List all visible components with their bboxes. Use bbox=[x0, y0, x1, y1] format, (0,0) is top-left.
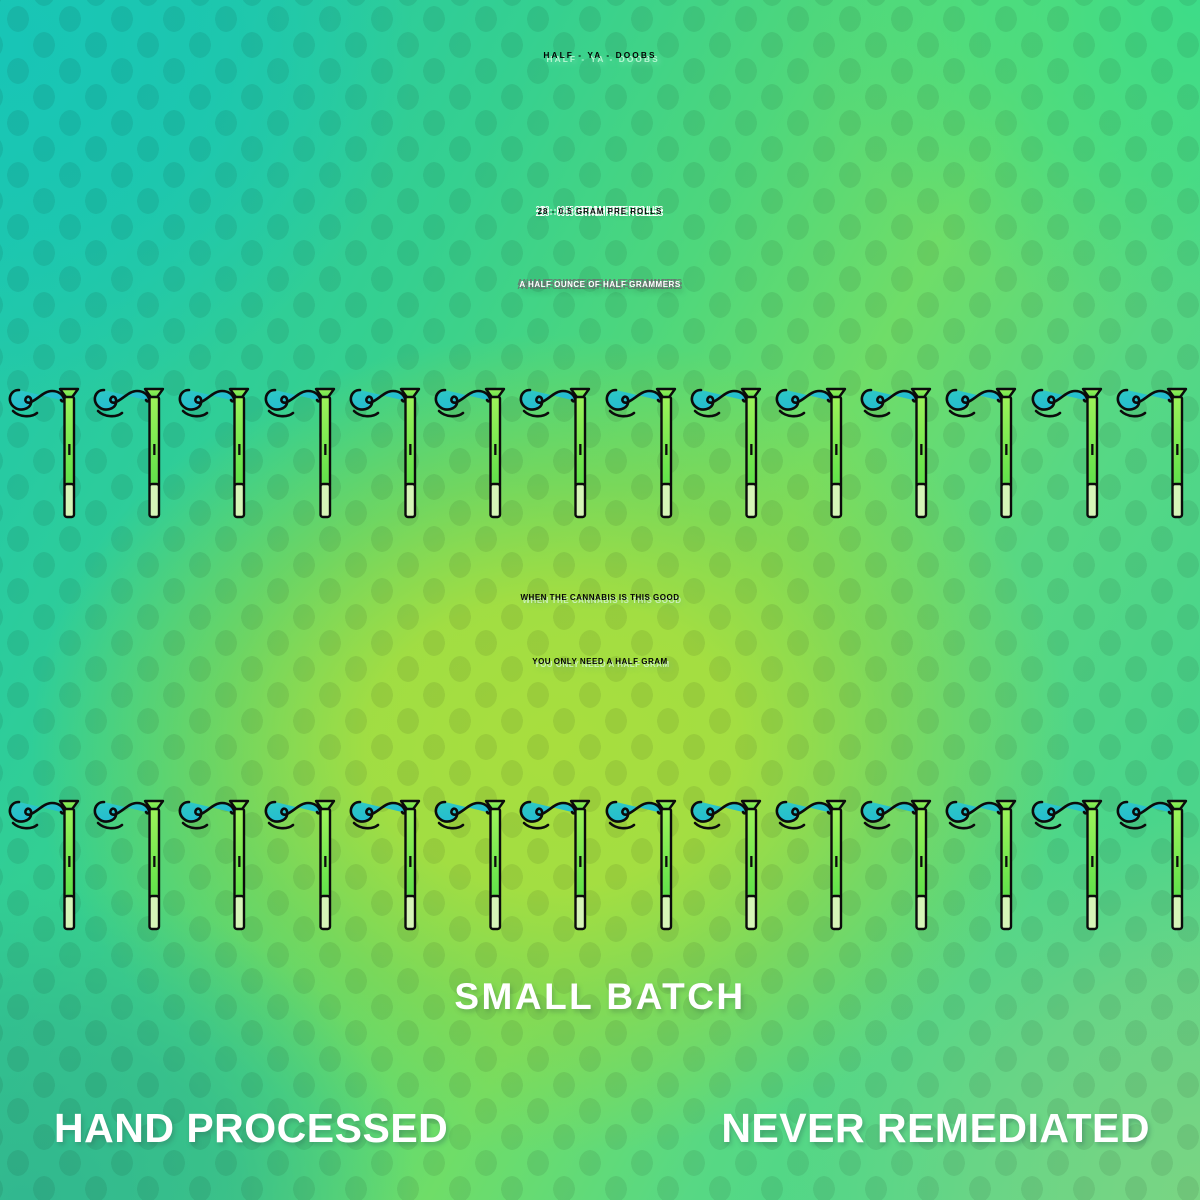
joint-body bbox=[405, 809, 415, 899]
joint-body bbox=[235, 809, 245, 899]
smoke-wisp-icon bbox=[436, 390, 490, 416]
smoke-wisp-icon bbox=[1032, 802, 1086, 828]
joint-filter bbox=[1087, 896, 1097, 929]
joint-filter bbox=[576, 896, 586, 929]
poster-content: HALF - YA - DOOBS 28 - 0.5 GRAM PRE ROLL… bbox=[0, 0, 1200, 1200]
pre-roll-joint-icon bbox=[603, 790, 683, 940]
joint-body-notch bbox=[835, 856, 837, 867]
joint-body bbox=[917, 397, 927, 487]
joint-body bbox=[1002, 397, 1012, 487]
pre-roll-joint-icon bbox=[858, 790, 938, 940]
joint-body bbox=[320, 397, 330, 487]
joint-filter bbox=[150, 484, 160, 517]
footer-hand-processed: HAND PROCESSED bbox=[54, 1108, 448, 1149]
joint-filter bbox=[405, 484, 415, 517]
smoke-wisp-icon bbox=[1118, 802, 1172, 828]
small-batch-label: SMALL BATCH bbox=[0, 978, 1200, 1015]
smoke-wisp-icon bbox=[10, 390, 64, 416]
pre-roll-joint-icon bbox=[773, 790, 853, 940]
joint-body bbox=[1002, 809, 1012, 899]
joint-body bbox=[65, 809, 75, 899]
pre-roll-joint-icon bbox=[943, 790, 1023, 940]
pre-roll-joint-icon bbox=[1114, 790, 1194, 940]
joint-body-notch bbox=[1091, 856, 1093, 867]
joint-body-notch bbox=[153, 444, 155, 455]
pre-roll-joint-icon bbox=[91, 790, 171, 940]
smoke-wisp-icon bbox=[180, 802, 234, 828]
joint-body bbox=[65, 397, 75, 487]
joint-body bbox=[661, 397, 671, 487]
joint-body-notch bbox=[750, 856, 752, 867]
pre-roll-joint-icon bbox=[773, 378, 853, 528]
joint-row-bottom bbox=[0, 790, 1200, 940]
smoke-wisp-icon bbox=[777, 802, 831, 828]
joint-body-notch bbox=[835, 444, 837, 455]
smoke-wisp-icon bbox=[862, 802, 916, 828]
joint-body bbox=[746, 397, 756, 487]
joint-body bbox=[320, 809, 330, 899]
joint-body bbox=[405, 397, 415, 487]
joint-body bbox=[491, 809, 501, 899]
smoke-wisp-icon bbox=[351, 802, 405, 828]
joint-body bbox=[150, 397, 160, 487]
joint-filter bbox=[320, 484, 330, 517]
joint-body-notch bbox=[1176, 856, 1178, 867]
joint-filter bbox=[320, 896, 330, 929]
joint-body-notch bbox=[239, 444, 241, 455]
promotional-poster: HALF - YA - DOOBS 28 - 0.5 GRAM PRE ROLL… bbox=[0, 0, 1200, 1200]
joint-body bbox=[576, 809, 586, 899]
joint-body-notch bbox=[494, 856, 496, 867]
joint-body-notch bbox=[68, 444, 70, 455]
smoke-wisp-icon bbox=[1118, 390, 1172, 416]
joint-filter bbox=[661, 896, 671, 929]
joint-filter bbox=[491, 896, 501, 929]
joint-body-notch bbox=[494, 444, 496, 455]
pre-roll-joint-icon bbox=[91, 378, 171, 528]
joint-filter bbox=[150, 896, 160, 929]
page-title: HALF - YA - DOOBS bbox=[0, 52, 1200, 60]
smoke-wisp-icon bbox=[606, 390, 660, 416]
joint-body-notch bbox=[1091, 444, 1093, 455]
smoke-wisp-icon bbox=[266, 390, 320, 416]
joint-body-notch bbox=[409, 856, 411, 867]
joint-body bbox=[831, 397, 841, 487]
pre-roll-joint-icon bbox=[6, 378, 86, 528]
joint-filter bbox=[831, 896, 841, 929]
joint-body bbox=[235, 397, 245, 487]
smoke-wisp-icon bbox=[947, 390, 1001, 416]
pre-roll-joint-icon bbox=[517, 790, 597, 940]
smoke-wisp-icon bbox=[1032, 390, 1086, 416]
pre-roll-joint-icon bbox=[176, 790, 256, 940]
smoke-wisp-icon bbox=[947, 802, 1001, 828]
joint-body-notch bbox=[580, 444, 582, 455]
joint-filter bbox=[1002, 896, 1012, 929]
smoke-wisp-icon bbox=[180, 390, 234, 416]
joint-body bbox=[1172, 397, 1182, 487]
pre-roll-joint-icon bbox=[6, 790, 86, 940]
joint-filter bbox=[405, 896, 415, 929]
joint-filter bbox=[1087, 484, 1097, 517]
pre-roll-joint-icon bbox=[688, 790, 768, 940]
joint-body bbox=[746, 809, 756, 899]
pre-roll-joint-icon bbox=[347, 378, 427, 528]
joint-filter bbox=[831, 484, 841, 517]
joint-body-notch bbox=[1006, 444, 1008, 455]
smoke-wisp-icon bbox=[521, 390, 575, 416]
joint-body-notch bbox=[239, 856, 241, 867]
joint-filter bbox=[235, 896, 245, 929]
joint-filter bbox=[1172, 484, 1182, 517]
joint-filter bbox=[661, 484, 671, 517]
joint-body-notch bbox=[324, 856, 326, 867]
smoke-wisp-icon bbox=[351, 390, 405, 416]
pre-roll-joint-icon bbox=[1114, 378, 1194, 528]
pre-roll-joint-icon bbox=[432, 790, 512, 940]
joint-body bbox=[576, 397, 586, 487]
joint-body-notch bbox=[1006, 856, 1008, 867]
subtitle-description: A HALF OUNCE OF HALF GRAMMERS bbox=[0, 281, 1200, 289]
pre-roll-joint-icon bbox=[603, 378, 683, 528]
pre-roll-joint-icon bbox=[1029, 790, 1109, 940]
pre-roll-joint-icon bbox=[943, 378, 1023, 528]
joint-body bbox=[917, 809, 927, 899]
joint-body-notch bbox=[153, 856, 155, 867]
smoke-wisp-icon bbox=[266, 802, 320, 828]
smoke-wisp-icon bbox=[692, 802, 746, 828]
joint-body bbox=[661, 809, 671, 899]
tagline-line-1: WHEN THE CANNABIS IS THIS GOOD bbox=[0, 594, 1200, 602]
joint-body bbox=[150, 809, 160, 899]
subtitle-quantity: 28 - 0.5 GRAM PRE ROLLS bbox=[0, 208, 1200, 216]
joint-filter bbox=[1172, 896, 1182, 929]
joint-body bbox=[1172, 809, 1182, 899]
tagline-line-2: YOU ONLY NEED A HALF GRAM bbox=[0, 658, 1200, 666]
smoke-wisp-icon bbox=[777, 390, 831, 416]
pre-roll-joint-icon bbox=[262, 378, 342, 528]
joint-filter bbox=[235, 484, 245, 517]
joint-filter bbox=[917, 896, 927, 929]
joint-body bbox=[1087, 397, 1097, 487]
joint-filter bbox=[746, 896, 756, 929]
pre-roll-joint-icon bbox=[432, 378, 512, 528]
joint-body-notch bbox=[68, 856, 70, 867]
joint-filter bbox=[491, 484, 501, 517]
joint-body-notch bbox=[920, 444, 922, 455]
joint-filter bbox=[746, 484, 756, 517]
smoke-wisp-icon bbox=[521, 802, 575, 828]
pre-roll-joint-icon bbox=[858, 378, 938, 528]
pre-roll-joint-icon bbox=[176, 378, 256, 528]
pre-roll-joint-icon bbox=[347, 790, 427, 940]
joint-body-notch bbox=[409, 444, 411, 455]
footer-never-remediated: NEVER REMEDIATED bbox=[721, 1108, 1150, 1149]
pre-roll-joint-icon bbox=[262, 790, 342, 940]
joint-body-notch bbox=[665, 444, 667, 455]
pre-roll-joint-icon bbox=[688, 378, 768, 528]
joint-filter bbox=[576, 484, 586, 517]
joint-body-notch bbox=[1176, 444, 1178, 455]
smoke-wisp-icon bbox=[606, 802, 660, 828]
joint-body bbox=[1087, 809, 1097, 899]
joint-body bbox=[491, 397, 501, 487]
joint-body bbox=[831, 809, 841, 899]
joint-filter bbox=[917, 484, 927, 517]
joint-row-top bbox=[0, 378, 1200, 528]
joint-filter bbox=[65, 896, 75, 929]
joint-body-notch bbox=[665, 856, 667, 867]
joint-body-notch bbox=[324, 444, 326, 455]
smoke-wisp-icon bbox=[95, 802, 149, 828]
pre-roll-joint-icon bbox=[1029, 378, 1109, 528]
joint-body-notch bbox=[920, 856, 922, 867]
joint-body-notch bbox=[750, 444, 752, 455]
smoke-wisp-icon bbox=[692, 390, 746, 416]
smoke-wisp-icon bbox=[436, 802, 490, 828]
smoke-wisp-icon bbox=[10, 802, 64, 828]
joint-filter bbox=[1002, 484, 1012, 517]
smoke-wisp-icon bbox=[862, 390, 916, 416]
smoke-wisp-icon bbox=[95, 390, 149, 416]
joint-body-notch bbox=[580, 856, 582, 867]
joint-filter bbox=[65, 484, 75, 517]
pre-roll-joint-icon bbox=[517, 378, 597, 528]
